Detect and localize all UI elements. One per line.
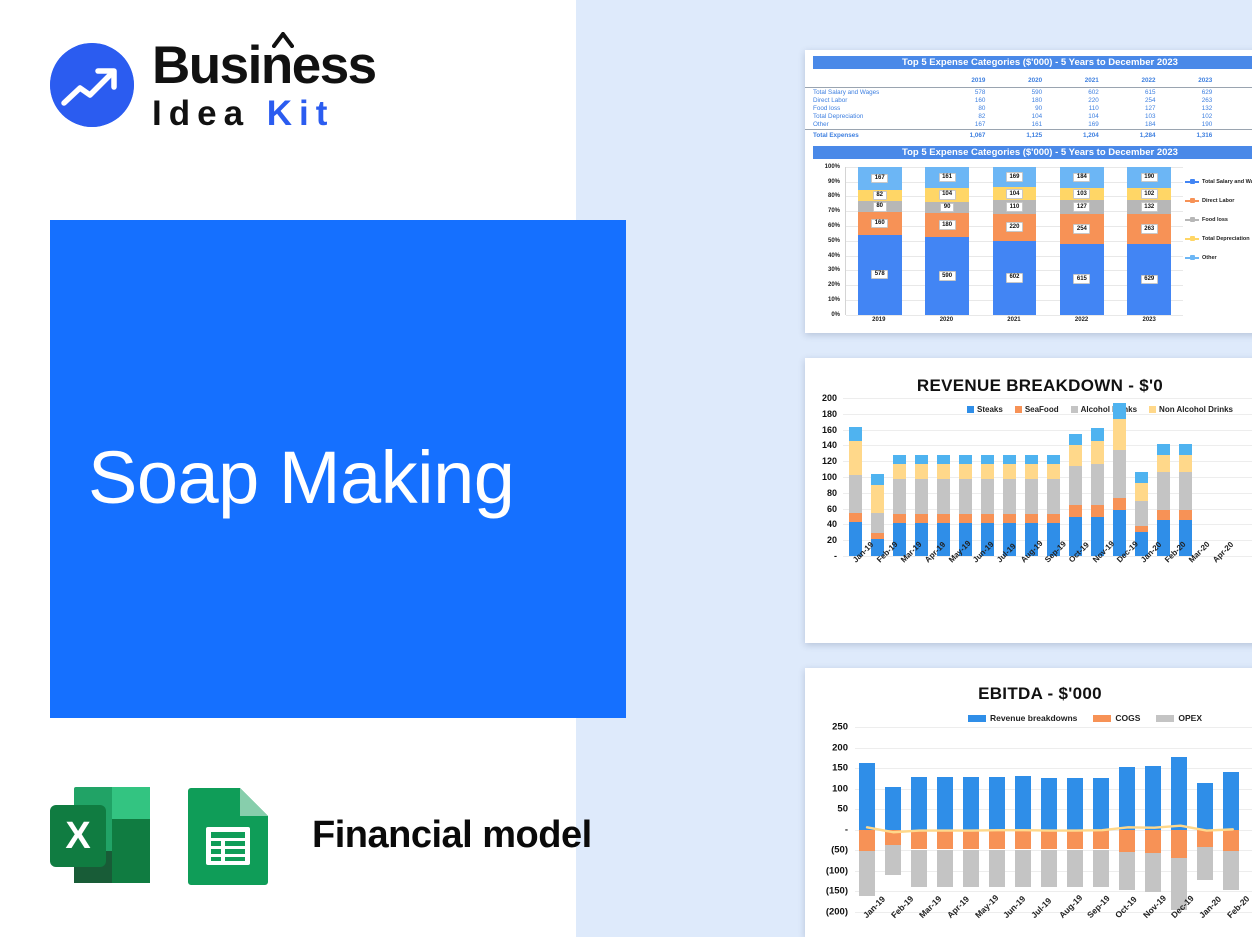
expense-row-label: Total Depreciation bbox=[805, 113, 935, 121]
slide-canvas: Business Idea Kit Soap Making X bbox=[0, 0, 1252, 937]
expense-chart-title: Top 5 Expense Categories ($'000) - 5 Yea… bbox=[813, 146, 1252, 159]
ebitda-cogs-bar bbox=[989, 830, 1005, 850]
expense-y-tick: 90% bbox=[828, 179, 840, 185]
expense-legend: Total Salary and WagesDirect LaborFood l… bbox=[1185, 179, 1252, 261]
legend-swatch bbox=[1185, 181, 1199, 183]
revenue-plot-area bbox=[843, 398, 1252, 556]
expense-cell: 629 bbox=[1162, 88, 1219, 97]
brand-logo: Business Idea Kit bbox=[50, 39, 376, 131]
expense-x-tick: 2019 bbox=[857, 317, 901, 333]
expense-cell: 90 bbox=[991, 104, 1048, 112]
expense-bar-value: 127 bbox=[1073, 202, 1090, 212]
ebitda-column bbox=[989, 727, 1005, 912]
revenue-x-axis: Jan-19Feb-19Mar-19Apr-19May-19Jun-19Jul-… bbox=[843, 558, 1252, 567]
legend-label: OPEX bbox=[1178, 713, 1202, 723]
revenue-bar-segment bbox=[1003, 455, 1016, 464]
ebitda-y-tick: 100 bbox=[832, 783, 848, 794]
revenue-bar-segment bbox=[981, 464, 994, 480]
revenue-bar-segment bbox=[981, 514, 994, 523]
expense-total-cell: 1,067 bbox=[935, 132, 992, 140]
expense-cell: 263 bbox=[1162, 96, 1219, 104]
ebitda-revenue-bar bbox=[885, 787, 901, 830]
expense-x-axis: 20192020202120222023 bbox=[845, 317, 1183, 333]
expense-cell: 180 bbox=[991, 96, 1048, 104]
expense-bar-value: 602 bbox=[1006, 273, 1023, 283]
expense-x-tick: 2020 bbox=[924, 317, 968, 333]
expense-bar-segment: 615 bbox=[1060, 244, 1104, 315]
brand-name-text: Business bbox=[152, 36, 376, 95]
expense-stacked-chart: 0%10%20%30%40%50%60%70%80%90%100% 167828… bbox=[813, 165, 1252, 333]
ebitda-revenue-bar bbox=[963, 777, 979, 830]
revenue-bar-segment bbox=[1157, 455, 1170, 472]
expense-categories-card: Top 5 Expense Categories ($'000) - 5 Yea… bbox=[805, 50, 1252, 333]
ebitda-column bbox=[1119, 727, 1135, 912]
file-format-label: Financial model bbox=[312, 814, 592, 857]
expense-cell: 161 bbox=[991, 121, 1048, 130]
expense-cell: 160 bbox=[935, 96, 992, 104]
legend-item: Total Depreciation bbox=[1185, 236, 1252, 242]
expense-row-label: Total Salary and Wages bbox=[805, 88, 935, 97]
ebitda-cogs-bar bbox=[1145, 830, 1161, 853]
ebitda-cogs-bar bbox=[1171, 830, 1187, 858]
expense-cell: 184 bbox=[1105, 121, 1162, 130]
ebitda-cogs-bar bbox=[937, 830, 953, 850]
revenue-bar-segment bbox=[1091, 464, 1104, 505]
revenue-bar-segment bbox=[1179, 472, 1192, 510]
expense-bar-segment: 82 bbox=[858, 190, 902, 201]
ebitda-revenue-bar bbox=[911, 777, 927, 830]
expense-cell: 590 bbox=[991, 88, 1048, 97]
growth-arrow-icon bbox=[50, 43, 134, 127]
expense-col-header: 2023 bbox=[1162, 76, 1219, 86]
expense-bar-value: 180 bbox=[939, 220, 956, 230]
revenue-bar-segment bbox=[1113, 498, 1126, 511]
revenue-bar-segment bbox=[893, 514, 906, 523]
legend-label: COGS bbox=[1115, 713, 1140, 723]
expense-bar-value: 104 bbox=[1006, 189, 1023, 199]
expense-bar-value: 190 bbox=[1141, 173, 1158, 183]
revenue-bar-segment bbox=[849, 513, 862, 522]
ebitda-y-tick: 250 bbox=[832, 722, 848, 733]
expense-x-tick: 2023 bbox=[1127, 317, 1171, 333]
expense-cell: 102 bbox=[1162, 113, 1219, 121]
revenue-bar-segment bbox=[1113, 403, 1126, 419]
ebitda-y-tick: - bbox=[845, 824, 848, 835]
legend-label: Other bbox=[1202, 255, 1217, 261]
revenue-y-tick: 120 bbox=[822, 456, 837, 466]
revenue-y-tick: 100 bbox=[822, 472, 837, 482]
expense-row-label: Direct Labor bbox=[805, 96, 935, 104]
expense-cell: 190 bbox=[1162, 121, 1219, 130]
expense-bar-value: 80 bbox=[873, 202, 887, 212]
revenue-bar-segment bbox=[959, 455, 972, 464]
ebitda-y-tick: 200 bbox=[832, 742, 848, 753]
expense-bar-segment: 220 bbox=[993, 214, 1037, 241]
expense-bar-value: 578 bbox=[871, 270, 888, 280]
legend-label: Total Salary and Wages bbox=[1202, 179, 1252, 185]
expense-bar: 190102132263629 bbox=[1127, 167, 1171, 315]
revenue-bar-segment bbox=[959, 514, 972, 523]
expense-bar-segment: 160 bbox=[858, 212, 902, 234]
expense-bar-segment: 578 bbox=[858, 235, 902, 315]
ebitda-card: EBITDA - $'000 Revenue breakdownsCOGSOPE… bbox=[805, 668, 1252, 937]
expense-bar-value: 167 bbox=[871, 174, 888, 184]
ebitda-cogs-bar bbox=[1223, 830, 1239, 851]
brand-idea-text: Idea bbox=[152, 94, 250, 133]
ebitda-opex-bar bbox=[1041, 850, 1057, 888]
ebitda-cogs-bar bbox=[1093, 830, 1109, 850]
expense-cell: 103 bbox=[1105, 113, 1162, 121]
svg-text:X: X bbox=[65, 815, 91, 857]
expense-y-tick: 80% bbox=[828, 193, 840, 199]
expense-cell: 602 bbox=[1048, 88, 1105, 97]
ebitda-cogs-bar bbox=[1197, 830, 1213, 847]
revenue-bar-segment bbox=[1113, 450, 1126, 497]
ebitda-column bbox=[937, 727, 953, 912]
ebitda-column bbox=[1223, 727, 1239, 912]
revenue-bar-segment bbox=[1135, 472, 1148, 483]
expense-cell: 615 bbox=[1105, 88, 1162, 97]
ebitda-column bbox=[885, 727, 901, 912]
expense-table-body: Total Salary and Wages578590602615629Dir… bbox=[805, 88, 1252, 140]
expense-x-tick: 2022 bbox=[1060, 317, 1104, 333]
revenue-bar-segment bbox=[871, 513, 884, 534]
revenue-breakdown-card: REVENUE BREAKDOWN - $'0 SteaksSeaFoodAlc… bbox=[805, 358, 1252, 643]
ebitda-cogs-bar bbox=[885, 830, 901, 846]
ebitda-revenue-bar bbox=[1145, 766, 1161, 830]
ebitda-opex-bar bbox=[885, 845, 901, 875]
brand-kit-text: Kit bbox=[267, 94, 335, 133]
expense-y-tick: 40% bbox=[828, 253, 840, 259]
revenue-y-axis: 20018016014012010080604020- bbox=[805, 398, 841, 556]
ebitda-revenue-bar bbox=[1067, 778, 1083, 830]
revenue-y-tick: 60 bbox=[827, 504, 837, 514]
revenue-bar-segment bbox=[915, 479, 928, 514]
expense-row-label: Food loss bbox=[805, 104, 935, 112]
revenue-bar-segment bbox=[1157, 510, 1170, 519]
google-sheets-file-icon bbox=[178, 785, 278, 885]
revenue-y-tick: - bbox=[834, 551, 837, 561]
revenue-bar-segment bbox=[1091, 428, 1104, 441]
expense-bar-segment: 184 bbox=[1060, 167, 1104, 188]
revenue-y-tick: 40 bbox=[827, 519, 837, 529]
expense-bar-segment: 127 bbox=[1060, 200, 1104, 215]
expense-col-header: 2021 bbox=[1048, 76, 1105, 86]
revenue-bar-segment bbox=[915, 455, 928, 464]
legend-item: COGS bbox=[1093, 713, 1140, 723]
ebitda-y-tick: 50 bbox=[837, 804, 848, 815]
expense-table: 20192020202120222023 Total Salary and Wa… bbox=[805, 76, 1252, 140]
revenue-y-tick: 180 bbox=[822, 409, 837, 419]
ebitda-legend: Revenue breakdownsCOGSOPEX bbox=[805, 713, 1252, 723]
ebitda-column bbox=[1171, 727, 1187, 912]
revenue-y-tick: 20 bbox=[827, 535, 837, 545]
ebitda-y-tick: (150) bbox=[826, 886, 848, 897]
revenue-bar-segment bbox=[849, 427, 862, 440]
revenue-bar-segment bbox=[871, 485, 884, 513]
legend-label: Total Depreciation bbox=[1202, 236, 1250, 242]
legend-item: Direct Labor bbox=[1185, 198, 1252, 204]
expense-cell: 169 bbox=[1048, 121, 1105, 130]
expense-cell: 254 bbox=[1105, 96, 1162, 104]
ebitda-cogs-bar bbox=[1067, 830, 1083, 850]
ebitda-cogs-bar bbox=[911, 830, 927, 850]
ebitda-cogs-bar bbox=[1015, 830, 1031, 850]
ebitda-column bbox=[1197, 727, 1213, 912]
revenue-bar bbox=[1091, 428, 1104, 556]
revenue-bar bbox=[1047, 455, 1060, 556]
ebitda-cogs-bar bbox=[859, 830, 875, 851]
expense-cell: 80 bbox=[935, 104, 992, 112]
legend-item: OPEX bbox=[1156, 713, 1202, 723]
revenue-chart-title: REVENUE BREAKDOWN - $'0 bbox=[805, 376, 1252, 396]
revenue-bar bbox=[1003, 455, 1016, 556]
ebitda-revenue-bar bbox=[1119, 767, 1135, 829]
revenue-bar-segment bbox=[1157, 444, 1170, 455]
expense-bar-segment: 180 bbox=[925, 213, 969, 237]
ebitda-opex-bar bbox=[859, 851, 875, 895]
revenue-bar-segment bbox=[849, 441, 862, 476]
ebitda-cogs-bar bbox=[963, 830, 979, 850]
ebitda-revenue-bar bbox=[859, 763, 875, 830]
revenue-bar bbox=[1113, 403, 1126, 556]
expense-y-tick: 70% bbox=[828, 208, 840, 214]
expense-y-tick: 0% bbox=[831, 312, 840, 318]
revenue-bar-segment bbox=[915, 464, 928, 480]
ebitda-x-axis: Jan-19Feb-19Mar-19Apr-19May-19Jun-19Jul-… bbox=[855, 913, 1252, 923]
expense-bar-value: 615 bbox=[1073, 274, 1090, 284]
expense-table-title: Top 5 Expense Categories ($'000) - 5 Yea… bbox=[813, 56, 1252, 69]
ebitda-y-tick: 150 bbox=[832, 763, 848, 774]
revenue-bar bbox=[849, 427, 862, 556]
revenue-bar-segment bbox=[937, 464, 950, 480]
ebitda-opex-bar bbox=[911, 850, 927, 888]
legend-swatch bbox=[1185, 219, 1199, 221]
revenue-bar-segment bbox=[1091, 505, 1104, 516]
legend-item: Total Salary and Wages bbox=[1185, 179, 1252, 185]
revenue-bar-segment bbox=[1047, 455, 1060, 464]
expense-bar-value: 90 bbox=[940, 203, 954, 213]
page-title: Soap Making bbox=[88, 435, 514, 520]
expense-bar-segment: 90 bbox=[925, 202, 969, 214]
expense-bar-value: 263 bbox=[1141, 224, 1158, 234]
expense-bar-segment: 80 bbox=[858, 201, 902, 212]
ebitda-revenue-bar bbox=[1093, 778, 1109, 830]
revenue-bar-segment bbox=[981, 455, 994, 464]
revenue-bar-segment bbox=[1047, 479, 1060, 514]
expense-bar-value: 103 bbox=[1073, 189, 1090, 199]
ebitda-plot-area bbox=[855, 727, 1252, 912]
ebitda-opex-bar bbox=[937, 850, 953, 888]
expense-col-header: 2019 bbox=[935, 76, 992, 86]
excel-file-icon: X bbox=[48, 785, 152, 885]
table-row: Direct Labor160180220254263 bbox=[805, 96, 1252, 104]
revenue-bar-segment bbox=[1179, 444, 1192, 455]
expense-y-tick: 10% bbox=[828, 297, 840, 303]
ebitda-revenue-bar bbox=[1171, 757, 1187, 830]
revenue-bar bbox=[1157, 444, 1170, 556]
expense-bar-segment: 104 bbox=[925, 188, 969, 202]
table-row-total: Total Expenses1,0671,1251,2041,2841,316 bbox=[805, 132, 1252, 140]
revenue-bar-segment bbox=[937, 455, 950, 464]
expense-bar-segment: 602 bbox=[993, 241, 1037, 315]
revenue-y-tick: 200 bbox=[822, 393, 837, 403]
revenue-bar-segment bbox=[1069, 445, 1082, 466]
expense-bar-value: 82 bbox=[873, 191, 887, 201]
expense-cell: 220 bbox=[1048, 96, 1105, 104]
legend-item: Other bbox=[1185, 255, 1252, 261]
expense-bar-segment: 629 bbox=[1127, 244, 1171, 315]
expense-total-cell: 1,284 bbox=[1105, 132, 1162, 140]
ebitda-y-tick: (50) bbox=[831, 845, 848, 856]
expense-bar-value: 102 bbox=[1141, 189, 1158, 199]
legend-swatch bbox=[1093, 715, 1111, 722]
expense-cell: 127 bbox=[1105, 104, 1162, 112]
revenue-bar-segment bbox=[1069, 505, 1082, 516]
ebitda-opex-bar bbox=[1119, 852, 1135, 890]
ebitda-revenue-bar bbox=[989, 777, 1005, 830]
expense-cell: 82 bbox=[935, 113, 992, 121]
revenue-bar-segment bbox=[893, 479, 906, 514]
revenue-bar-segment bbox=[1003, 464, 1016, 480]
expense-y-tick: 100% bbox=[825, 164, 840, 170]
table-row: Other167161169184190 bbox=[805, 121, 1252, 130]
revenue-bars bbox=[843, 398, 1252, 556]
expense-bar-segment: 263 bbox=[1127, 214, 1171, 244]
legend-item: Revenue breakdowns bbox=[968, 713, 1077, 723]
expense-total-cell: 1,204 bbox=[1048, 132, 1105, 140]
expense-cell: 104 bbox=[1048, 113, 1105, 121]
circumflex-accent-icon bbox=[272, 32, 294, 48]
brand-name-line2: Idea Kit bbox=[152, 96, 376, 131]
expense-y-axis: 0%10%20%30%40%50%60%70%80%90%100% bbox=[813, 165, 843, 315]
ebitda-opex-bar bbox=[1223, 851, 1239, 890]
expense-bar-segment: 590 bbox=[925, 237, 969, 315]
ebitda-revenue-bar bbox=[1223, 772, 1239, 830]
ebitda-chart: 25020015010050-(50)(100)(150)(200) Jan-1… bbox=[805, 727, 1252, 917]
expense-total-cell: 1,125 bbox=[991, 132, 1048, 140]
expense-row-label: Other bbox=[805, 121, 935, 130]
revenue-bar-segment bbox=[1179, 455, 1192, 472]
ebitda-opex-bar bbox=[989, 850, 1005, 888]
expense-y-tick: 50% bbox=[828, 238, 840, 244]
ebitda-column bbox=[1067, 727, 1083, 912]
ebitda-revenue-bar bbox=[1041, 778, 1057, 830]
revenue-y-tick: 140 bbox=[822, 440, 837, 450]
ebitda-column bbox=[1041, 727, 1057, 912]
table-row: Total Salary and Wages578590602615629 bbox=[805, 88, 1252, 97]
revenue-bar-segment bbox=[959, 464, 972, 480]
table-row: Food loss8090110127132 bbox=[805, 104, 1252, 112]
expense-bar-value: 220 bbox=[1006, 222, 1023, 232]
ebitda-opex-bar bbox=[1197, 847, 1213, 880]
revenue-bar-segment bbox=[893, 455, 906, 464]
revenue-bar-segment bbox=[1091, 441, 1104, 465]
expense-bar-value: 104 bbox=[939, 190, 956, 200]
expense-bar-segment: 102 bbox=[1127, 188, 1171, 199]
ebitda-column bbox=[963, 727, 979, 912]
ebitda-cogs-bar bbox=[1041, 830, 1057, 850]
revenue-y-tick: 160 bbox=[822, 425, 837, 435]
revenue-bar-segment bbox=[1025, 455, 1038, 464]
ebitda-opex-bar bbox=[1093, 850, 1109, 888]
revenue-bar-segment bbox=[1025, 479, 1038, 514]
expense-bar-value: 169 bbox=[1006, 172, 1023, 182]
expense-bar-value: 184 bbox=[1073, 173, 1090, 183]
revenue-bar-segment bbox=[1157, 472, 1170, 510]
legend-swatch bbox=[1185, 257, 1199, 259]
ebitda-opex-bar bbox=[1015, 850, 1031, 888]
ebitda-revenue-bar bbox=[1015, 776, 1031, 829]
ebitda-column bbox=[1015, 727, 1031, 912]
revenue-bar-segment bbox=[937, 514, 950, 523]
expense-bar-value: 590 bbox=[939, 271, 956, 281]
expense-cell: 167 bbox=[935, 121, 992, 130]
expense-x-tick: 2021 bbox=[992, 317, 1036, 333]
ebitda-bars bbox=[855, 727, 1252, 912]
expense-bar-value: 161 bbox=[939, 173, 956, 183]
expense-bar-segment: 169 bbox=[993, 167, 1037, 188]
revenue-bar-segment bbox=[1069, 434, 1082, 445]
revenue-bar-segment bbox=[915, 514, 928, 523]
brand-name-line1: Business bbox=[152, 39, 376, 92]
revenue-y-tick: 80 bbox=[827, 488, 837, 498]
expense-col-header: 2020 bbox=[991, 76, 1048, 86]
legend-swatch bbox=[1185, 238, 1199, 240]
legend-swatch bbox=[968, 715, 986, 722]
ebitda-y-tick: (100) bbox=[826, 865, 848, 876]
expense-total-cell: 1,316 bbox=[1162, 132, 1219, 140]
ebitda-cogs-bar bbox=[1119, 830, 1135, 853]
revenue-bar-segment bbox=[1069, 466, 1082, 506]
expense-bars: 1678280160578161104901805901691041102206… bbox=[846, 167, 1183, 315]
expense-bar-value: 160 bbox=[871, 219, 888, 229]
ebitda-column bbox=[911, 727, 927, 912]
revenue-bar-segment bbox=[981, 479, 994, 514]
expense-cell: 110 bbox=[1048, 104, 1105, 112]
revenue-bar-segment bbox=[1135, 483, 1148, 500]
ebitda-column bbox=[1145, 727, 1161, 912]
expense-bar: 16110490180590 bbox=[925, 167, 969, 315]
ebitda-revenue-bar bbox=[1197, 783, 1213, 829]
expense-cell: 578 bbox=[935, 88, 992, 97]
revenue-bar-segment bbox=[871, 474, 884, 485]
gridline bbox=[846, 315, 1183, 316]
ebitda-column bbox=[859, 727, 875, 912]
ebitda-revenue-bar bbox=[937, 777, 953, 830]
expense-y-tick: 20% bbox=[828, 282, 840, 288]
legend-label: Direct Labor bbox=[1202, 198, 1234, 204]
revenue-bar-segment bbox=[1003, 479, 1016, 514]
expense-bar-segment: 132 bbox=[1127, 200, 1171, 215]
revenue-bar-segment bbox=[1113, 419, 1126, 451]
revenue-bar-segment bbox=[893, 464, 906, 480]
expense-col-header: 2022 bbox=[1105, 76, 1162, 86]
expense-table-head: 20192020202120222023 bbox=[805, 76, 1252, 88]
expense-bar-segment: 161 bbox=[925, 167, 969, 188]
expense-bar-segment: 103 bbox=[1060, 188, 1104, 200]
file-format-row: X Financial model bbox=[48, 785, 592, 885]
expense-cell: 132 bbox=[1162, 104, 1219, 112]
revenue-chart: 20018016014012010080604020- Jan-19Feb-19… bbox=[805, 398, 1252, 593]
revenue-bar-segment bbox=[959, 479, 972, 514]
expense-bar-segment: 110 bbox=[993, 200, 1037, 214]
ebitda-opex-bar bbox=[1145, 853, 1161, 892]
legend-item: Food loss bbox=[1185, 217, 1252, 223]
revenue-bar-segment bbox=[849, 475, 862, 512]
expense-total-label: Total Expenses bbox=[805, 132, 935, 140]
ebitda-opex-bar bbox=[963, 850, 979, 888]
